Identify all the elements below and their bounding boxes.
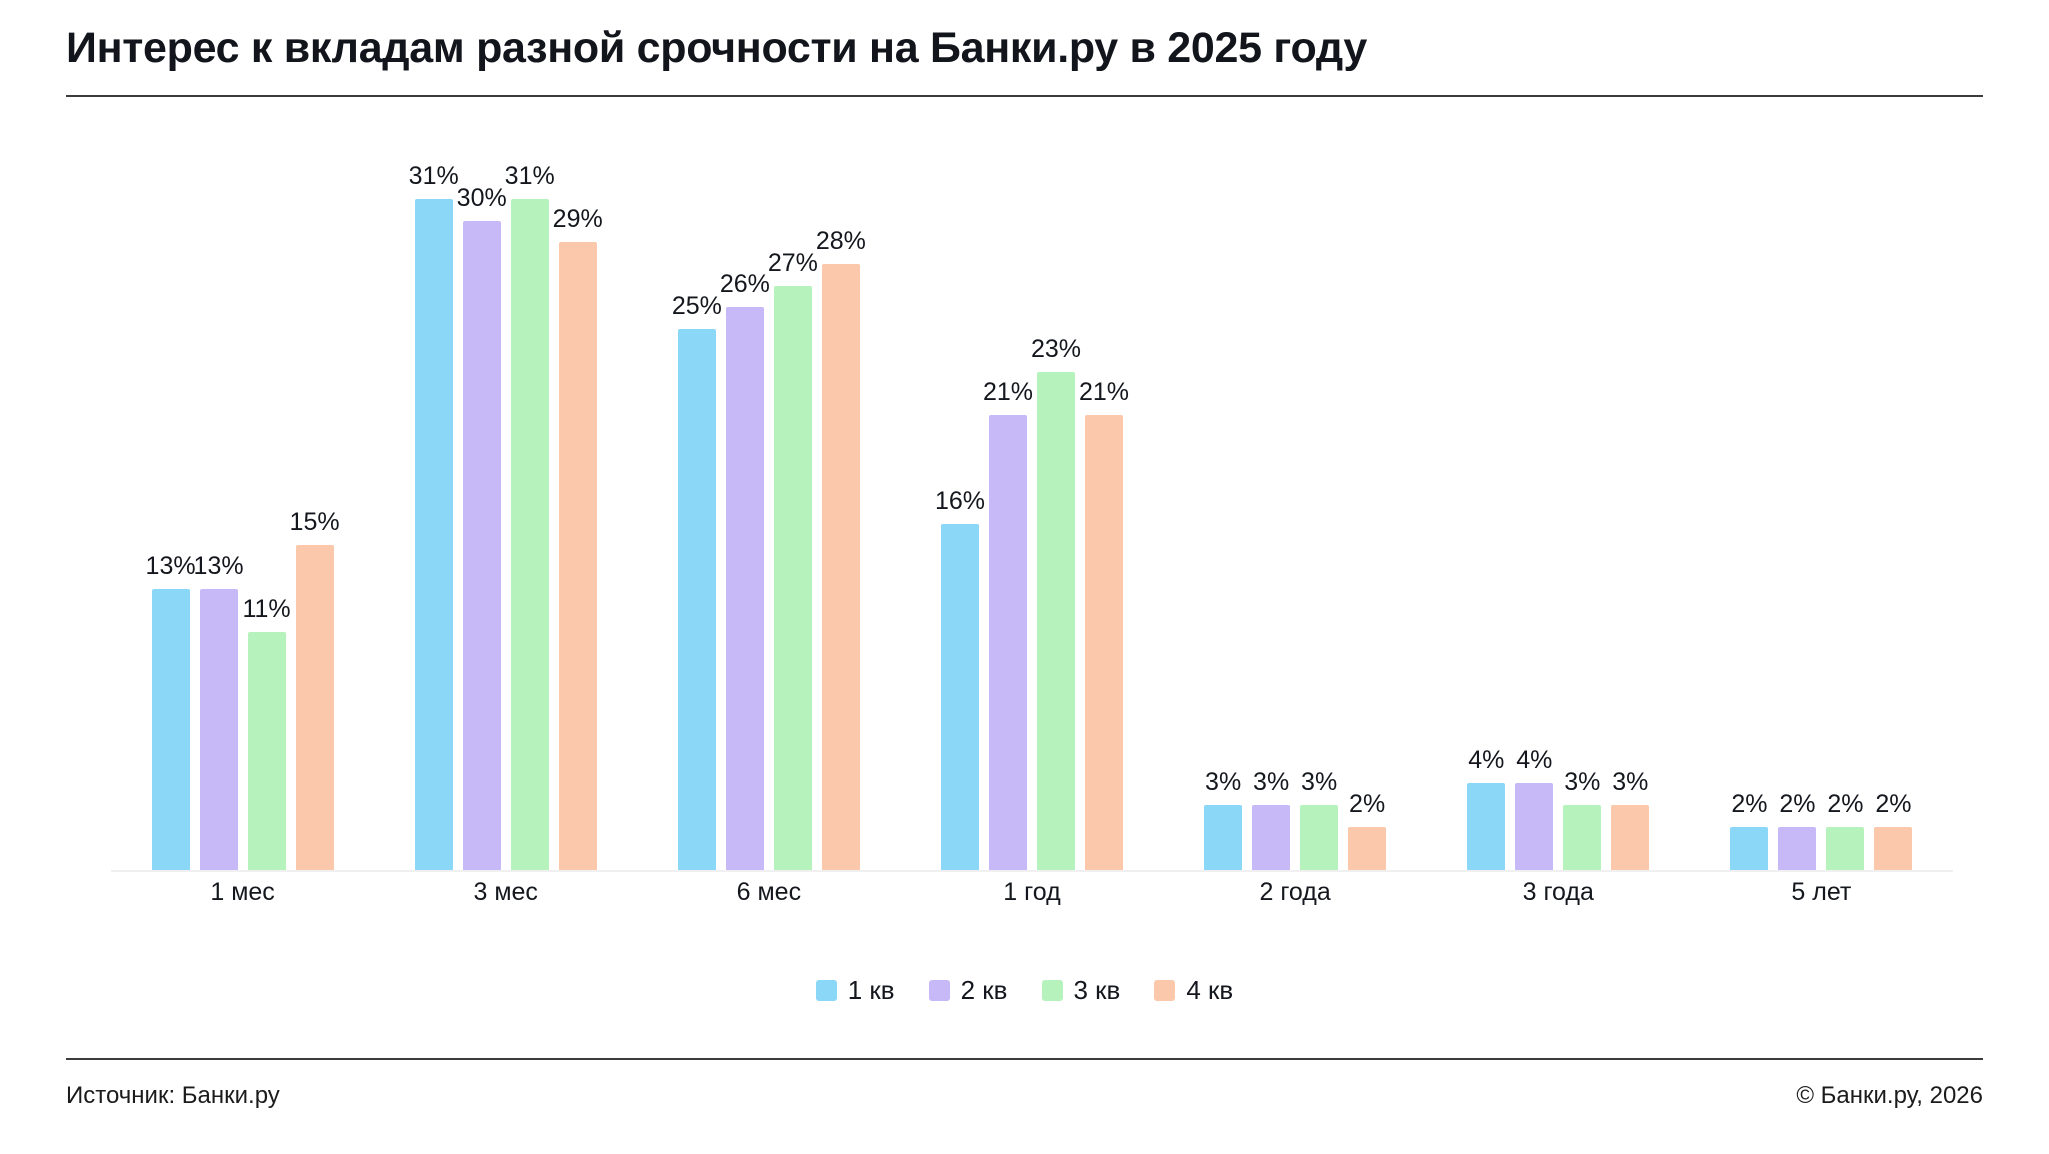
bar-value-label: 2% <box>1875 792 1911 817</box>
bar-column[interactable]: 3% <box>1611 136 1649 870</box>
bar[interactable] <box>559 242 597 870</box>
bar-value-label: 28% <box>816 229 866 254</box>
bar-column[interactable]: 11% <box>248 136 286 870</box>
bar[interactable] <box>415 199 453 870</box>
legend-label: 4 кв <box>1186 975 1233 1006</box>
bar[interactable] <box>1826 827 1864 870</box>
bar-column[interactable]: 3% <box>1563 136 1601 870</box>
legend-label: 2 кв <box>961 975 1008 1006</box>
bar[interactable] <box>1874 827 1912 870</box>
bar-column[interactable]: 13% <box>200 136 238 870</box>
bar-value-label: 16% <box>935 489 985 514</box>
bar-column[interactable]: 23% <box>1037 136 1075 870</box>
x-axis-tick: 5 лет <box>1690 878 1953 907</box>
bar[interactable] <box>1563 805 1601 870</box>
bar-value-label: 13% <box>146 554 196 579</box>
bar-column[interactable]: 4% <box>1467 136 1505 870</box>
x-axis-labels: 1 мес3 мес6 мес1 год2 года3 года5 лет <box>111 878 1953 907</box>
legend-swatch-icon <box>1042 980 1063 1001</box>
bar[interactable] <box>1730 827 1768 870</box>
bar-value-label: 26% <box>720 272 770 297</box>
bar[interactable] <box>989 415 1027 870</box>
bar-column[interactable]: 3% <box>1252 136 1290 870</box>
bar-value-label: 2% <box>1349 792 1385 817</box>
bar-value-label: 31% <box>409 164 459 189</box>
bar-chart: 13%13%11%15%31%30%31%29%25%26%27%28%16%2… <box>66 136 1983 896</box>
bar[interactable] <box>1300 805 1338 870</box>
legend-swatch-icon <box>816 980 837 1001</box>
bar-value-label: 23% <box>1031 337 1081 362</box>
bar-group: 16%21%23%21% <box>900 136 1163 870</box>
bar-value-label: 2% <box>1779 792 1815 817</box>
bar-value-label: 2% <box>1827 792 1863 817</box>
legend-item[interactable]: 4 кв <box>1154 975 1233 1006</box>
bar-column[interactable]: 2% <box>1730 136 1768 870</box>
bar-column[interactable]: 31% <box>415 136 453 870</box>
footer: Источник: Банки.ру © Банки.ру, 2026 <box>66 1082 1983 1110</box>
chart-legend: 1 кв2 кв3 кв4 кв <box>0 975 2049 1006</box>
bar-column[interactable]: 25% <box>678 136 716 870</box>
bar[interactable] <box>248 632 286 870</box>
bar-value-label: 3% <box>1253 770 1289 795</box>
bar-value-label: 3% <box>1301 770 1337 795</box>
bar-column[interactable]: 13% <box>152 136 190 870</box>
x-axis-tick: 1 мес <box>111 878 374 907</box>
bar-value-label: 2% <box>1731 792 1767 817</box>
bar-group: 4%4%3%3% <box>1427 136 1690 870</box>
header-divider <box>66 95 1983 97</box>
bar-groups: 13%13%11%15%31%30%31%29%25%26%27%28%16%2… <box>111 136 1953 870</box>
chart-page: Интерес к вкладам разной срочности на Ба… <box>0 0 2049 1154</box>
bar-column[interactable]: 28% <box>822 136 860 870</box>
bar-group: 3%3%3%2% <box>1164 136 1427 870</box>
bar[interactable] <box>1348 827 1386 870</box>
bar[interactable] <box>1467 783 1505 870</box>
bar-column[interactable]: 30% <box>463 136 501 870</box>
x-axis-tick: 6 мес <box>637 878 900 907</box>
bar[interactable] <box>1515 783 1553 870</box>
source-label: Источник: Банки.ру <box>66 1082 280 1110</box>
legend-item[interactable]: 1 кв <box>816 975 895 1006</box>
x-axis-tick: 2 года <box>1164 878 1427 907</box>
bar[interactable] <box>463 221 501 870</box>
bar-value-label: 3% <box>1205 770 1241 795</box>
legend-swatch-icon <box>1154 980 1175 1001</box>
bar-column[interactable]: 26% <box>726 136 764 870</box>
bar-group: 25%26%27%28% <box>637 136 900 870</box>
bar-value-label: 29% <box>553 207 603 232</box>
bar-value-label: 4% <box>1516 748 1552 773</box>
bar-column[interactable]: 31% <box>511 136 549 870</box>
bar-group: 2%2%2%2% <box>1690 136 1953 870</box>
bar[interactable] <box>774 286 812 870</box>
x-axis-tick: 1 год <box>900 878 1163 907</box>
bar-value-label: 30% <box>457 186 507 211</box>
bar[interactable] <box>941 524 979 870</box>
bar-column[interactable]: 29% <box>559 136 597 870</box>
bar[interactable] <box>678 329 716 870</box>
bar-column[interactable]: 16% <box>941 136 979 870</box>
bar-column[interactable]: 2% <box>1348 136 1386 870</box>
axis-baseline <box>111 870 1953 872</box>
bar-group: 13%13%11%15% <box>111 136 374 870</box>
bar-column[interactable]: 3% <box>1204 136 1242 870</box>
page-title: Интерес к вкладам разной срочности на Ба… <box>66 24 1983 73</box>
bar-column[interactable]: 2% <box>1826 136 1864 870</box>
bar-value-label: 4% <box>1468 748 1504 773</box>
bar-value-label: 21% <box>1079 380 1129 405</box>
bar[interactable] <box>1778 827 1816 870</box>
bar-column[interactable]: 21% <box>989 136 1027 870</box>
bar-value-label: 25% <box>672 294 722 319</box>
bar-value-label: 31% <box>505 164 555 189</box>
bar-group: 31%30%31%29% <box>374 136 637 870</box>
legend-swatch-icon <box>929 980 950 1001</box>
plot-area: 13%13%11%15%31%30%31%29%25%26%27%28%16%2… <box>66 136 1983 872</box>
bar[interactable] <box>1085 415 1123 870</box>
legend-item[interactable]: 3 кв <box>1042 975 1121 1006</box>
bar-column[interactable]: 2% <box>1778 136 1816 870</box>
bar[interactable] <box>152 589 190 870</box>
bar[interactable] <box>726 307 764 870</box>
bar[interactable] <box>296 545 334 870</box>
legend-item[interactable]: 2 кв <box>929 975 1008 1006</box>
bar-column[interactable]: 4% <box>1515 136 1553 870</box>
x-axis-tick: 3 года <box>1427 878 1690 907</box>
bar-value-label: 11% <box>242 597 290 622</box>
header: Интерес к вкладам разной срочности на Ба… <box>66 24 1983 97</box>
bar-value-label: 13% <box>194 554 244 579</box>
bar-column[interactable]: 27% <box>774 136 812 870</box>
bar-column[interactable]: 15% <box>296 136 334 870</box>
bar[interactable] <box>511 199 549 870</box>
bar-value-label: 3% <box>1564 770 1600 795</box>
bar[interactable] <box>822 264 860 870</box>
x-axis-tick: 3 мес <box>374 878 637 907</box>
bar[interactable] <box>1204 805 1242 870</box>
bar[interactable] <box>1611 805 1649 870</box>
bar-value-label: 27% <box>768 251 818 276</box>
legend-label: 3 кв <box>1074 975 1121 1006</box>
bar[interactable] <box>1252 805 1290 870</box>
legend-label: 1 кв <box>848 975 895 1006</box>
bar-value-label: 21% <box>983 380 1033 405</box>
bar-value-label: 15% <box>290 510 340 535</box>
bar-value-label: 3% <box>1612 770 1648 795</box>
bar-column[interactable]: 3% <box>1300 136 1338 870</box>
bar-column[interactable]: 21% <box>1085 136 1123 870</box>
bar-column[interactable]: 2% <box>1874 136 1912 870</box>
bar[interactable] <box>200 589 238 870</box>
copyright-label: © Банки.ру, 2026 <box>1796 1082 1983 1110</box>
bar[interactable] <box>1037 372 1075 870</box>
footer-divider <box>66 1058 1983 1060</box>
